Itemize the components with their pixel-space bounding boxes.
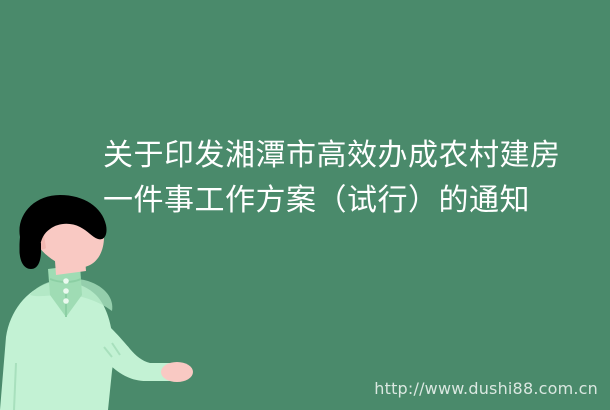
- page-title: 关于印发湘潭市高效办成农村建房 一件事工作方案（试行）的通知: [103, 133, 593, 223]
- person-pointing-illustration: [0, 195, 200, 410]
- title-line-1: 关于印发湘潭市高效办成农村建房: [103, 133, 593, 178]
- poster-canvas: 关于印发湘潭市高效办成农村建房 一件事工作方案（试行）的通知 http://ww…: [0, 0, 610, 410]
- hand-shape: [161, 362, 193, 382]
- button-2: [63, 288, 69, 294]
- watermark-url: http://www.dushi88.com.cn: [374, 379, 598, 398]
- button-3: [63, 298, 69, 304]
- collar-buttons: [63, 278, 69, 304]
- title-line-2: 一件事工作方案（试行）的通知: [103, 178, 593, 223]
- button-1: [63, 278, 69, 284]
